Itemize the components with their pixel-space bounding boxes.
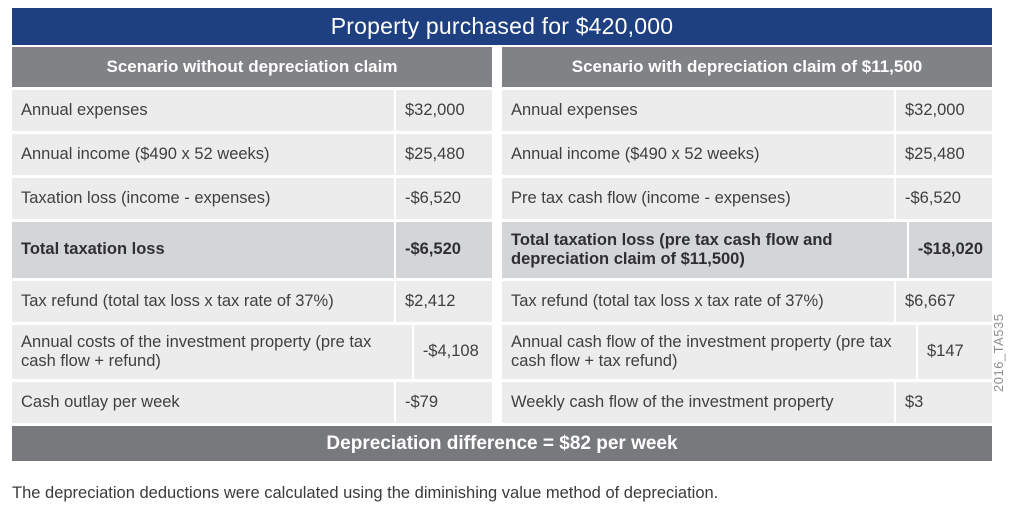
column-header-without-depreciation: Scenario without depreciation claim	[12, 47, 492, 87]
row-panel-right: Annual cash flow of the investment prope…	[502, 325, 992, 379]
table-row: Total taxation loss-$6,520Total taxation…	[12, 222, 992, 278]
row-panel-left: Taxation loss (income - expenses)-$6,520	[12, 178, 492, 219]
row-value-right: $147	[918, 325, 992, 379]
row-value-left: -$79	[396, 382, 492, 423]
row-label-right: Annual expenses	[502, 90, 894, 131]
row-panel-left: Tax refund (total tax loss x tax rate of…	[12, 281, 492, 322]
table-row: Annual income ($490 x 52 weeks)$25,480An…	[12, 134, 992, 175]
column-header-row: Scenario without depreciation claim Scen…	[12, 47, 992, 87]
document-reference-code: 2016_TA535	[991, 372, 1006, 392]
row-value-right: $3	[896, 382, 992, 423]
row-panel-right: Tax refund (total tax loss x tax rate of…	[502, 281, 992, 322]
row-value-left: $32,000	[396, 90, 492, 131]
row-label-left: Annual expenses	[12, 90, 394, 131]
row-label-right: Annual income ($490 x 52 weeks)	[502, 134, 894, 175]
table-caption: The depreciation deductions were calcula…	[12, 484, 718, 503]
row-label-left: Taxation loss (income - expenses)	[12, 178, 394, 219]
row-panel-left: Total taxation loss-$6,520	[12, 222, 492, 278]
row-value-left: $25,480	[396, 134, 492, 175]
table-row: Tax refund (total tax loss x tax rate of…	[12, 281, 992, 322]
table-row: Cash outlay per week-$79Weekly cash flow…	[12, 382, 992, 423]
row-value-left: -$4,108	[414, 325, 492, 379]
table-row: Annual costs of the investment property …	[12, 325, 992, 379]
row-value-right: -$18,020	[909, 222, 992, 278]
row-value-left: -$6,520	[396, 178, 492, 219]
row-label-left: Total taxation loss	[12, 222, 394, 278]
row-label-right: Weekly cash flow of the investment prope…	[502, 382, 894, 423]
row-label-right: Tax refund (total tax loss x tax rate of…	[502, 281, 894, 322]
row-panel-left: Annual expenses$32,000	[12, 90, 492, 131]
row-panel-right: Pre tax cash flow (income - expenses)-$6…	[502, 178, 992, 219]
table-footer-bar: Depreciation difference = $82 per week	[12, 426, 992, 461]
table-row: Annual expenses$32,000Annual expenses$32…	[12, 90, 992, 131]
row-value-right: -$6,520	[896, 178, 992, 219]
row-label-left: Annual income ($490 x 52 weeks)	[12, 134, 394, 175]
row-label-left: Cash outlay per week	[12, 382, 394, 423]
table-body: Annual expenses$32,000Annual expenses$32…	[12, 90, 992, 423]
depreciation-comparison-table: Property purchased for $420,000 Scenario…	[12, 8, 992, 461]
row-value-right: $25,480	[896, 134, 992, 175]
table-title-bar: Property purchased for $420,000	[12, 8, 992, 45]
row-panel-right: Total taxation loss (pre tax cash flow a…	[502, 222, 992, 278]
row-label-right: Total taxation loss (pre tax cash flow a…	[502, 222, 907, 278]
row-value-left: -$6,520	[396, 222, 492, 278]
row-label-right: Annual cash flow of the investment prope…	[502, 325, 916, 379]
row-panel-right: Annual expenses$32,000	[502, 90, 992, 131]
row-value-left: $2,412	[396, 281, 492, 322]
row-value-right: $6,667	[896, 281, 992, 322]
row-panel-right: Annual income ($490 x 52 weeks)$25,480	[502, 134, 992, 175]
comparison-table-page: Property purchased for $420,000 Scenario…	[0, 0, 1024, 516]
table-row: Taxation loss (income - expenses)-$6,520…	[12, 178, 992, 219]
row-label-left: Tax refund (total tax loss x tax rate of…	[12, 281, 394, 322]
row-panel-right: Weekly cash flow of the investment prope…	[502, 382, 992, 423]
row-label-left: Annual costs of the investment property …	[12, 325, 412, 379]
row-panel-left: Annual costs of the investment property …	[12, 325, 492, 379]
row-value-right: $32,000	[896, 90, 992, 131]
row-label-right: Pre tax cash flow (income - expenses)	[502, 178, 894, 219]
row-panel-left: Annual income ($490 x 52 weeks)$25,480	[12, 134, 492, 175]
row-panel-left: Cash outlay per week-$79	[12, 382, 492, 423]
column-header-with-depreciation: Scenario with depreciation claim of $11,…	[502, 47, 992, 87]
